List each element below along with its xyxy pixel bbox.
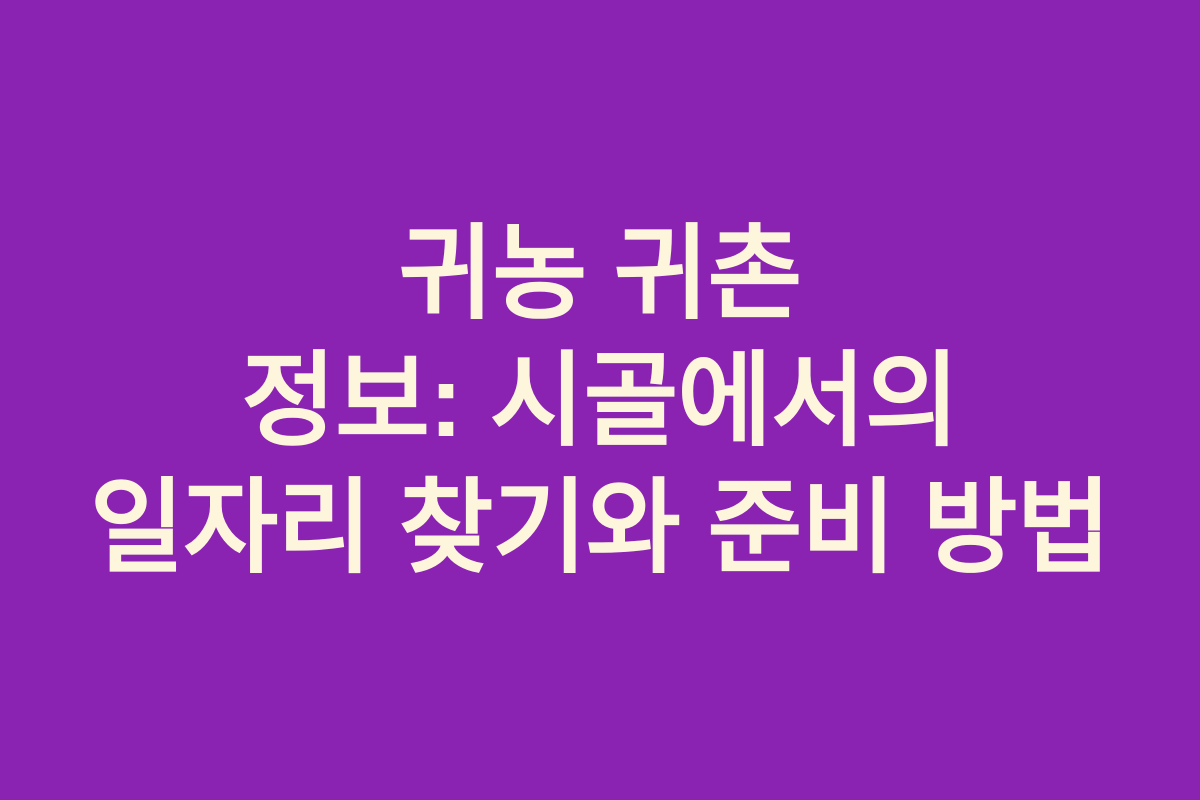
title-card: 귀농 귀촌 정보: 시골에서의 일자리 찾기와 준비 방법 [0, 0, 1200, 800]
title-line-3: 일자리 찾기와 준비 방법 [6, 464, 1194, 591]
page-title: 귀농 귀촌 정보: 시골에서의 일자리 찾기와 준비 방법 [0, 210, 1200, 591]
title-line-2: 정보: 시골에서의 [6, 337, 1194, 464]
title-line-1: 귀농 귀촌 [6, 210, 1194, 337]
